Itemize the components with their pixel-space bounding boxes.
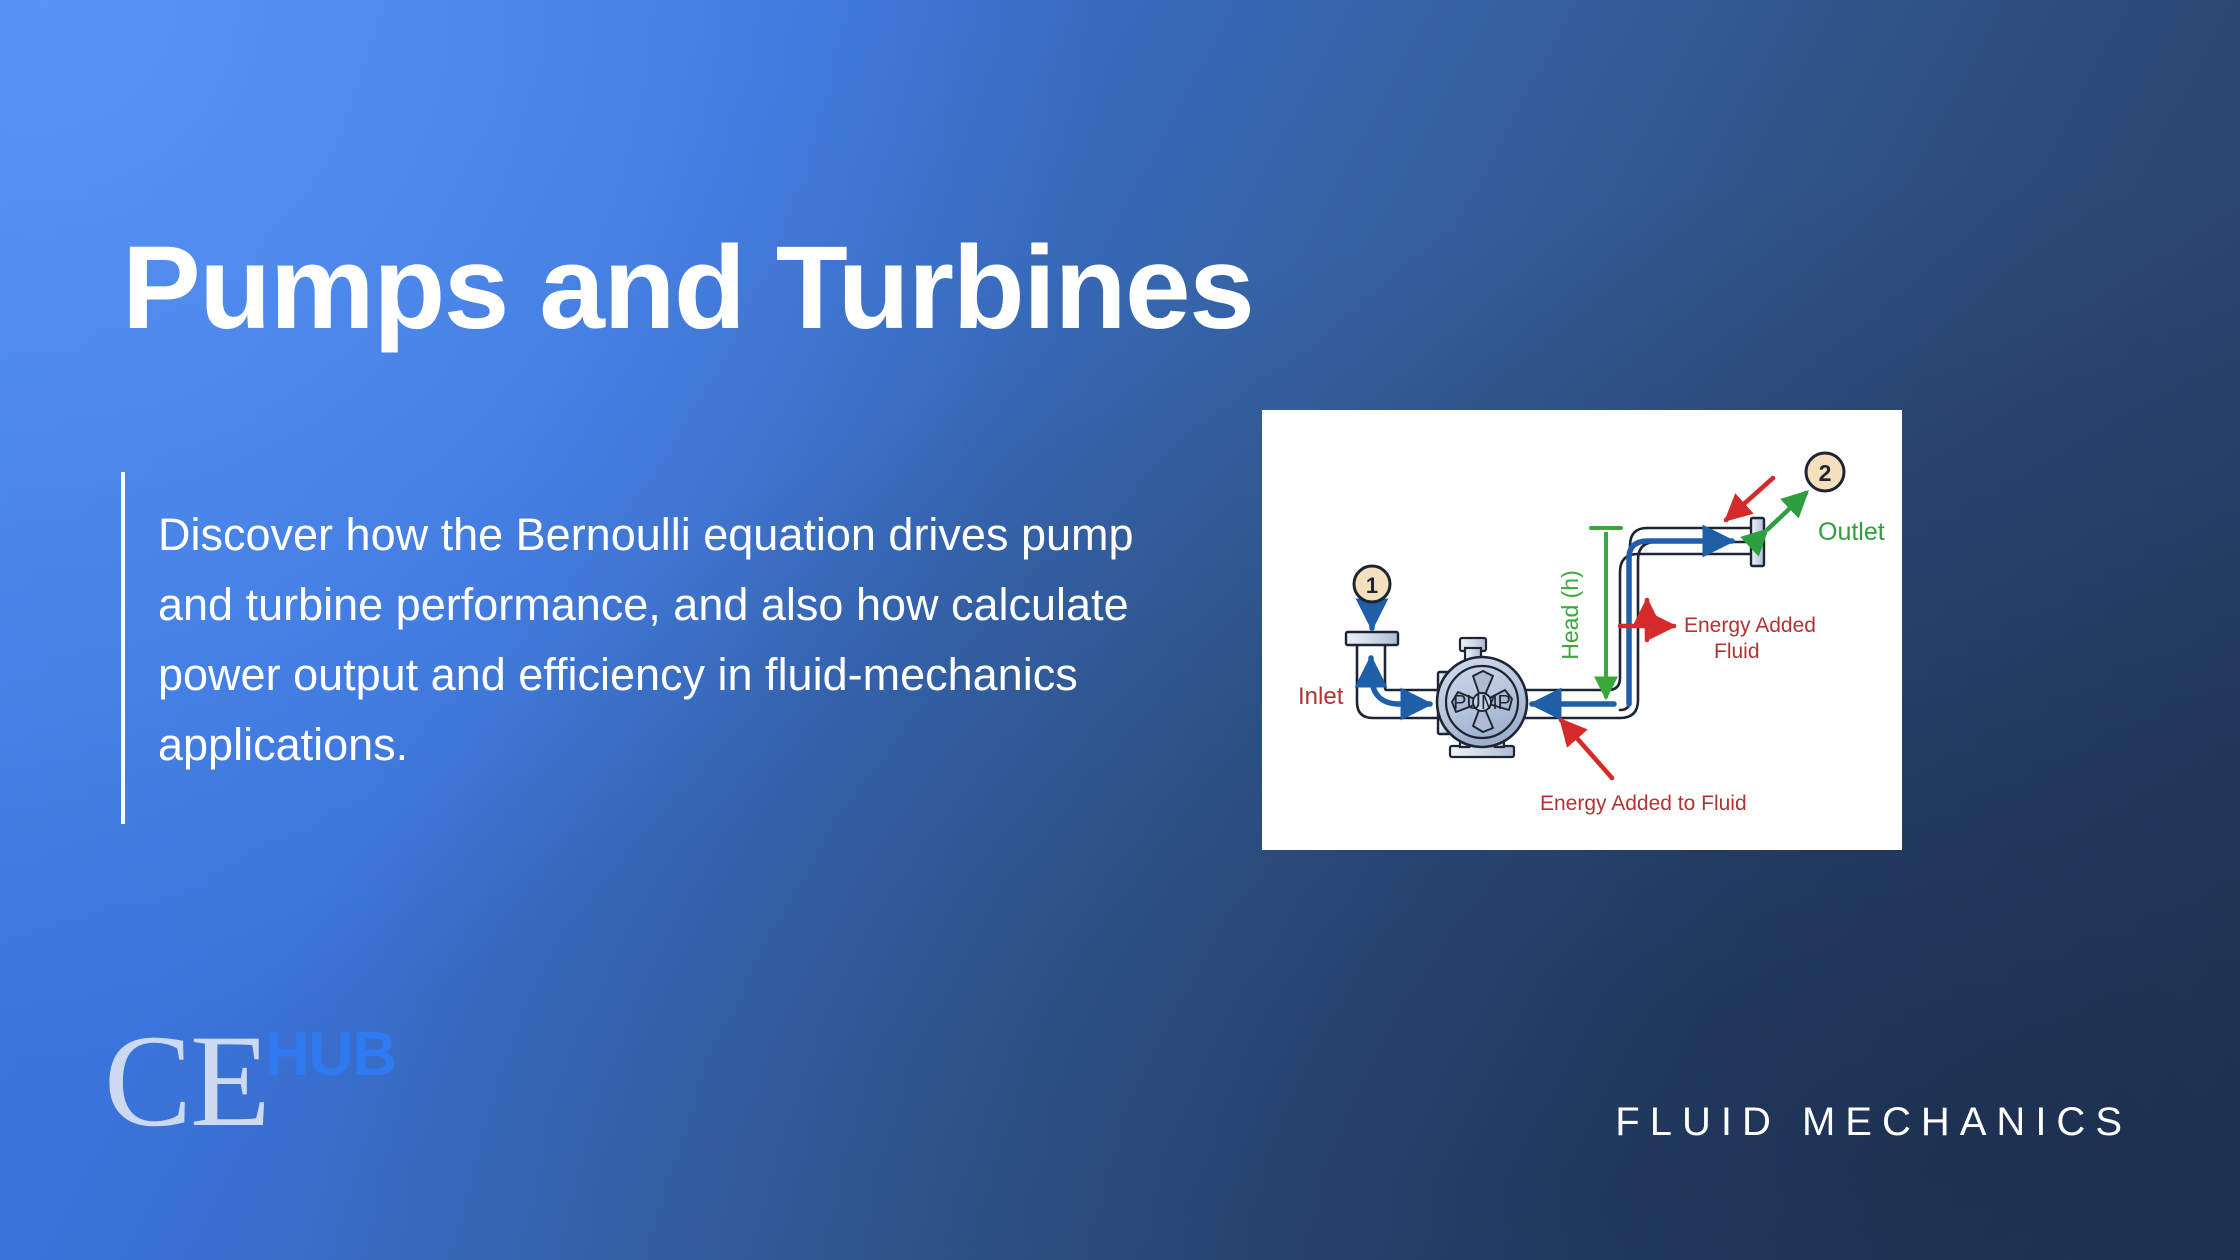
slide-root: Pumps and Turbines Discover how the Bern… — [0, 0, 2240, 1260]
inlet-flange — [1346, 632, 1398, 645]
outlet-arrow — [1767, 492, 1807, 530]
logo-ce-text: CE — [104, 1016, 269, 1145]
brand-logo[interactable]: CE HUB — [104, 1016, 396, 1145]
outlet-flange — [1751, 518, 1764, 566]
outlet-callout: Outlet — [1767, 492, 1885, 546]
page-title: Pumps and Turbines — [122, 229, 1253, 347]
energy-arrow-pump — [1561, 720, 1612, 778]
body-description: Discover how the Bernoulli equation driv… — [158, 500, 1188, 780]
flow-arrow-to-pump — [1371, 672, 1430, 704]
marker-1-label: 1 — [1366, 573, 1378, 598]
accent-bar — [121, 472, 125, 824]
footer-category-label: FLUID MECHANICS — [1615, 1100, 2132, 1145]
energy-added-to-fluid-label: Energy Added to Fluid — [1540, 792, 1747, 815]
energy-arrow-outlet — [1726, 478, 1773, 520]
pump-diagram-card: PUMP Head — [1262, 410, 1902, 850]
head-dimension: Head (h) — [1557, 528, 1621, 698]
inlet-label: Inlet — [1298, 683, 1344, 710]
outlet-label: Outlet — [1818, 518, 1885, 546]
marker-2-label: 2 — [1819, 460, 1832, 486]
flow-arrows — [1371, 541, 1732, 704]
head-label: Head (h) — [1557, 570, 1583, 659]
marker-point-1: 1 — [1354, 566, 1390, 602]
marker-point-2: 2 — [1806, 453, 1844, 491]
pump-label: PUMP — [1453, 692, 1511, 714]
energy-added-fluid-line1: Energy Added — [1684, 614, 1816, 637]
pump-body: PUMP — [1437, 638, 1527, 757]
logo-hub-text: HUB — [265, 1024, 396, 1086]
energy-added-fluid-line2: Fluid — [1714, 640, 1760, 663]
